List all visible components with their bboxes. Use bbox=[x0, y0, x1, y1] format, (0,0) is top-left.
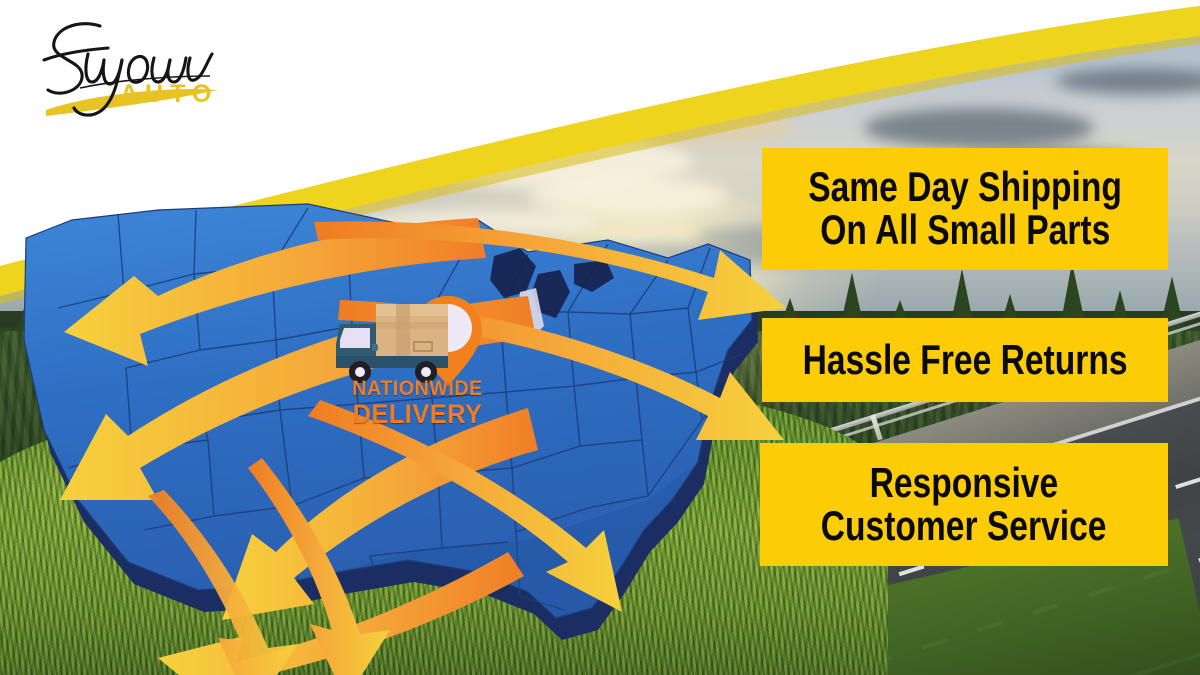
badge-text: NATIONWIDE DELIVERY bbox=[330, 378, 505, 428]
cloud bbox=[624, 108, 794, 144]
banner-3-line-2: Customer Service bbox=[821, 505, 1107, 548]
banner-1-line-1: Same Day Shipping bbox=[808, 166, 1122, 209]
cloud bbox=[864, 108, 1094, 148]
seymour-auto-logo[interactable]: AUTO bbox=[22, 14, 237, 126]
badge-line-1: NATIONWIDE bbox=[335, 378, 500, 400]
feature-banner-responsive-customer-service[interactable]: Responsive Customer Service bbox=[760, 443, 1168, 566]
feature-banner-same-day-shipping[interactable]: Same Day Shipping On All Small Parts bbox=[762, 148, 1168, 270]
marketing-banner: NATIONWIDE DELIVERY AU bbox=[0, 0, 1200, 675]
nationwide-delivery-badge: NATIONWIDE DELIVERY bbox=[330, 282, 505, 447]
cloud bbox=[1056, 68, 1200, 94]
cargo-box-icon bbox=[376, 304, 448, 356]
banner-3-line-1: Responsive bbox=[870, 462, 1059, 505]
badge-line-2: DELIVERY bbox=[335, 400, 500, 428]
svg-text:AUTO: AUTO bbox=[120, 80, 218, 108]
logo-auto-text: AUTO bbox=[120, 80, 218, 108]
feature-banner-hassle-free-returns[interactable]: Hassle Free Returns bbox=[762, 318, 1168, 402]
banner-2-line-1: Hassle Free Returns bbox=[803, 339, 1128, 382]
banner-1-line-2: On All Small Parts bbox=[820, 209, 1110, 252]
